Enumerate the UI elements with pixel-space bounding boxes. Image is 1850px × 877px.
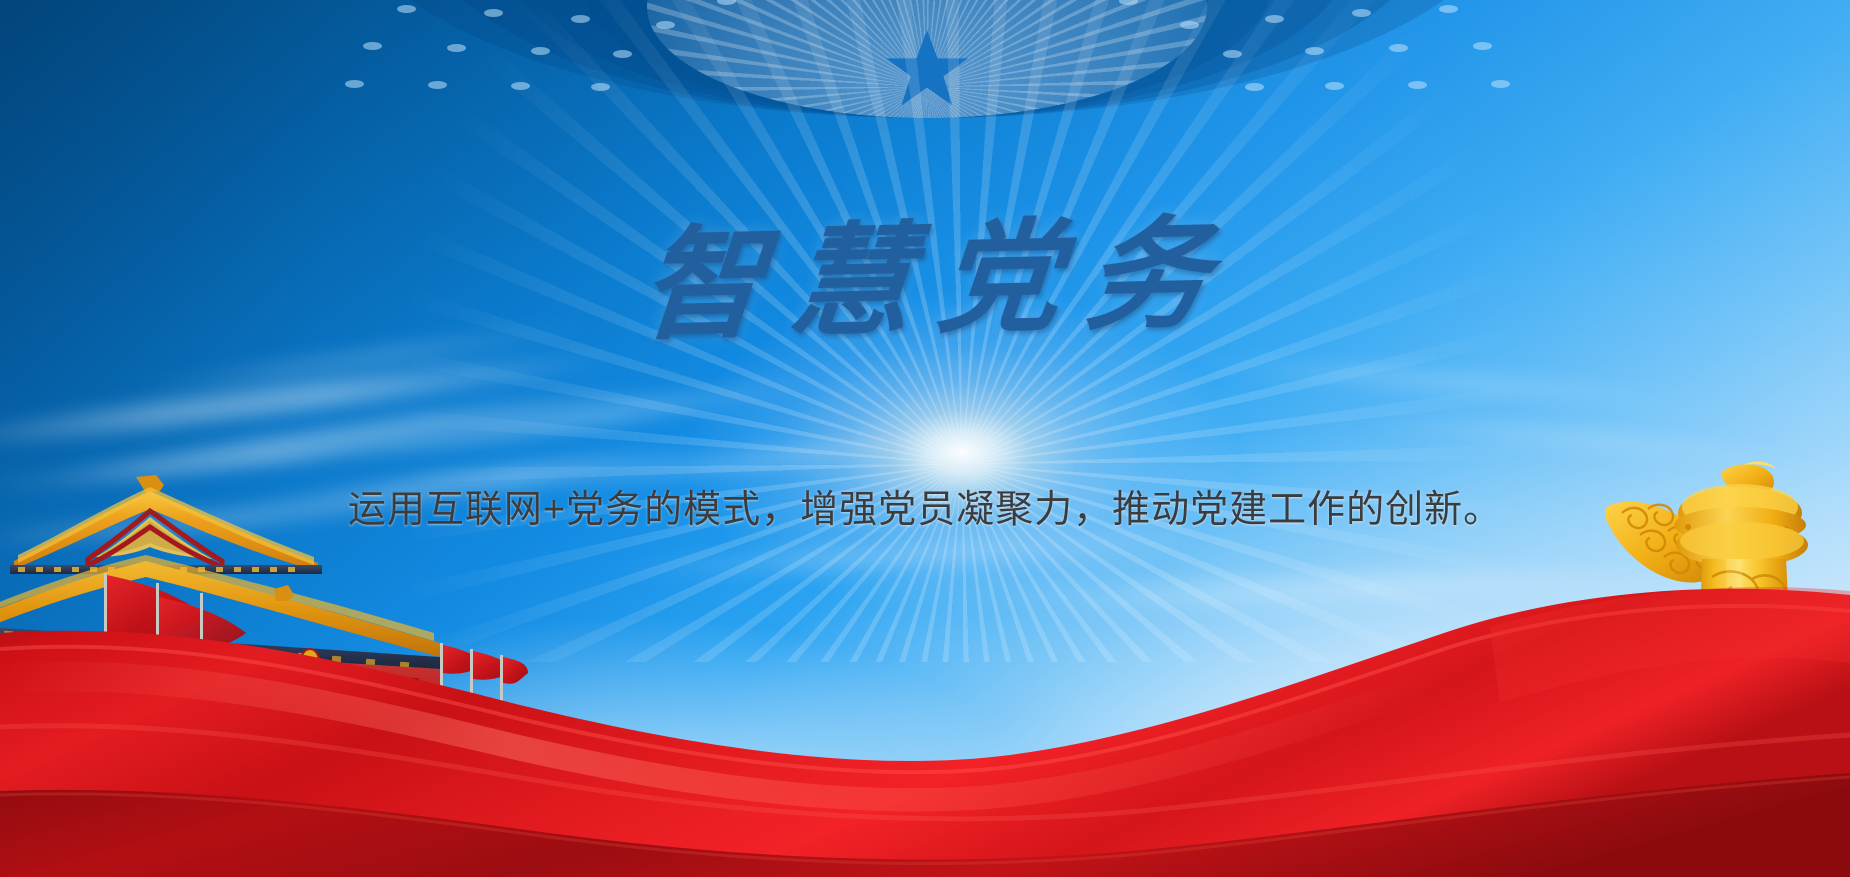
subtitle-container: 运用互联网+党务的模式，增强党员凝聚力，推动党建工作的创新。	[0, 490, 1850, 532]
red-silk-ribbon	[0, 577, 1850, 877]
banner-hero: 智慧党务 运用互联网+党务的模式，增强党员凝聚力，推动党建工作的创新。	[0, 0, 1850, 877]
page-subtitle: 运用互联网+党务的模式，增强党员凝聚力，推动党建工作的创新。	[348, 490, 1502, 532]
page-title: 智慧党务	[610, 212, 1239, 347]
title-container: 智慧党务	[0, 218, 1850, 340]
